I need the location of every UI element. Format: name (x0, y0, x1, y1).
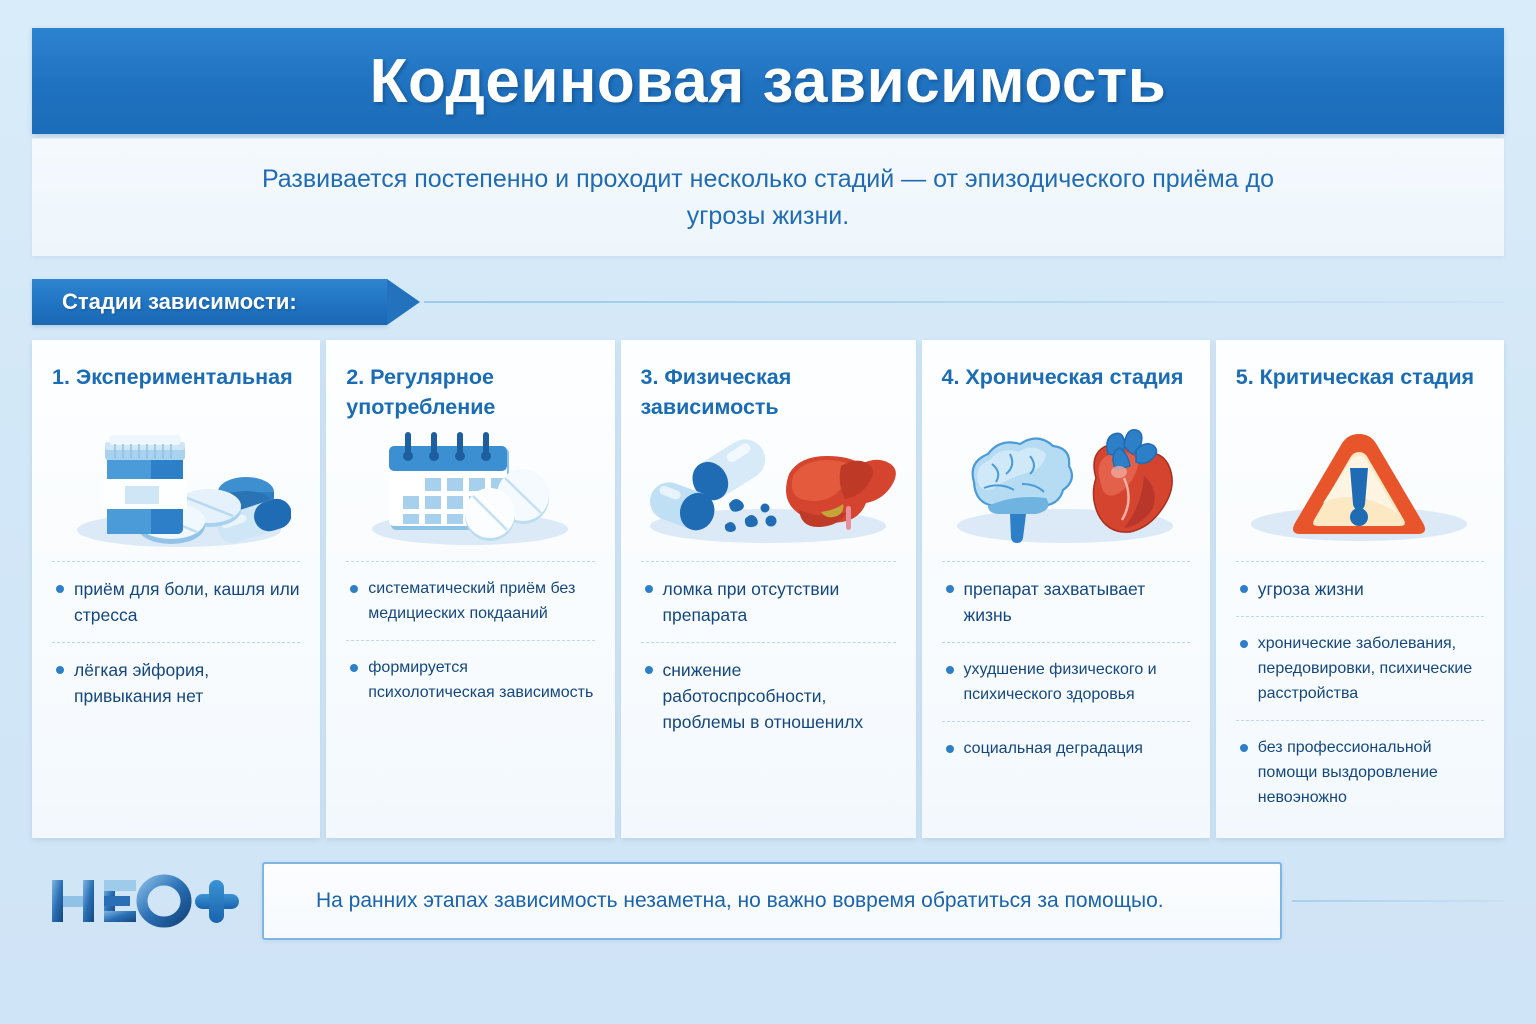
pill-bottle-and-tablets-icon (52, 426, 300, 551)
list-item-label: систематический приём без медициеских по… (368, 576, 594, 626)
list-item: социальная деградация (942, 722, 1190, 775)
stage-card-1-title: 1. Экспериментальная (52, 362, 300, 424)
bullet-dot-icon (946, 666, 954, 674)
footer-divider-rule (1292, 900, 1504, 902)
warning-triangle-icon (1236, 426, 1484, 551)
calendar-and-pills-icon (346, 426, 594, 551)
bullet-dot-icon (946, 585, 954, 593)
bullet-dot-icon (1240, 585, 1248, 593)
list-item-label: ухудшение физического и психического здо… (964, 657, 1190, 707)
footer-note: На ранних этапах зависимость незаметна, … (262, 862, 1282, 940)
bullet-dot-icon (350, 585, 358, 593)
list-item-label: препарат захватывает жизнь (964, 576, 1190, 628)
brain-and-heart-icon (942, 426, 1190, 551)
stage-card-5[interactable]: 5. Критическая стадия угроза жизни хрони… (1216, 340, 1504, 838)
list-item-label: приём для боли, кашля или стресса (74, 576, 300, 628)
stage-card-4-bullets: препарат захватывает жизнь ухудшение физ… (942, 561, 1190, 775)
list-item: лёгкая эйфория, привыкания нет (52, 643, 300, 723)
bullet-dot-icon (56, 666, 64, 674)
stage-card-2[interactable]: 2. Регулярное употребление (326, 340, 614, 838)
list-item: ухудшение физического и психического здо… (942, 643, 1190, 721)
bullet-dot-icon (56, 585, 64, 593)
list-item-label: ломка при отсутствии препарата (663, 576, 896, 628)
section-tab-label: Стадии зависимости: (32, 289, 297, 315)
stage-cards-container: 1. Экспериментальная (32, 340, 1504, 838)
bullet-dot-icon (350, 664, 358, 672)
section-header: Стадии зависимости: (32, 279, 1504, 325)
list-item: ломка при отсутствии препарата (641, 562, 896, 642)
bullet-dot-icon (1240, 640, 1248, 648)
section-tab: Стадии зависимости: (32, 279, 387, 325)
list-item-label: снижение работоспрсобности, проблемы в о… (663, 657, 896, 735)
list-item: без профессиональной помощи выздоровлени… (1236, 721, 1484, 824)
stage-card-4-title: 4. Хроническая стадия (942, 362, 1190, 424)
stage-card-3-title: 3. Физическая зависимость (641, 362, 896, 424)
list-item: приём для боли, кашля или стресса (52, 562, 300, 642)
list-item: формируется психолотическая зависимость (346, 641, 594, 719)
list-item: систематический приём без медициеских по… (346, 562, 594, 640)
subtitle-text: Развивается постепенно и проходит нескол… (243, 161, 1293, 235)
stage-card-3[interactable]: 3. Физическая зависимость (621, 340, 916, 838)
list-item-label: без профессиональной помощи выздоровлени… (1258, 735, 1484, 810)
page-title: Кодеиновая зависимость (370, 46, 1167, 117)
stage-card-1[interactable]: 1. Экспериментальная (32, 340, 320, 838)
list-item: снижение работоспрсобности, проблемы в о… (641, 643, 896, 749)
footer-note-text: На ранних этапах зависимость незаметна, … (264, 889, 1164, 913)
stage-card-1-bullets: приём для боли, кашля или стресса лёгкая… (52, 561, 300, 723)
bullet-dot-icon (645, 585, 653, 593)
list-item: хронические заболевания, передовировки, … (1236, 617, 1484, 720)
subtitle-band: Развивается постепенно и проходит нескол… (32, 138, 1504, 256)
list-item-label: лёгкая эйфория, привыкания нет (74, 657, 300, 709)
list-item: препарат захватывает жизнь (942, 562, 1190, 642)
capsule-and-liver-icon (641, 426, 896, 551)
bullet-dot-icon (1240, 744, 1248, 752)
stage-card-5-bullets: угроза жизни хронические заболевания, пе… (1236, 561, 1484, 824)
section-divider-rule (424, 301, 1504, 303)
neo-plus-logo (50, 872, 240, 928)
stage-card-5-title: 5. Критическая стадия (1236, 362, 1484, 424)
list-item: угроза жизни (1236, 562, 1484, 616)
stage-card-2-title: 2. Регулярное употребление (346, 362, 594, 424)
header-band: Кодеиновая зависимость (32, 28, 1504, 134)
list-item-label: формируется психолотическая зависимость (368, 655, 594, 705)
section-tab-arrow-icon (387, 279, 420, 325)
stage-card-3-bullets: ломка при отсутствии препарата снижение … (641, 561, 896, 749)
list-item-label: угроза жизни (1258, 576, 1364, 602)
bullet-dot-icon (645, 666, 653, 674)
list-item-label: хронические заболевания, передовировки, … (1258, 631, 1484, 706)
stage-card-4[interactable]: 4. Хроническая стадия (922, 340, 1210, 838)
list-item-label: социальная деградация (964, 736, 1143, 761)
stage-card-2-bullets: систематический приём без медициеских по… (346, 561, 594, 719)
bullet-dot-icon (946, 745, 954, 753)
